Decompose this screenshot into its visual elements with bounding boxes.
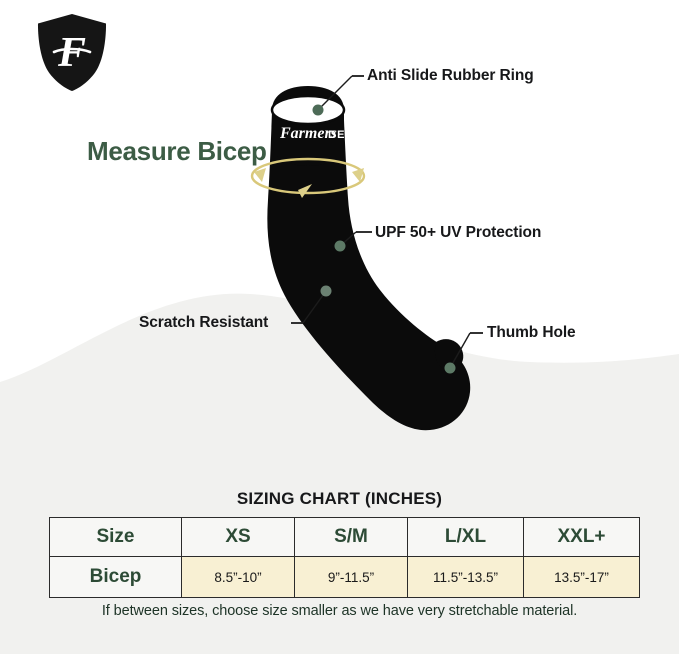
- sizing-chart-title: SIZING CHART (INCHES): [0, 489, 679, 509]
- shield-logo-icon: F: [30, 8, 114, 96]
- sizing-chart-table: Size XS S/M L/XL XXL+ Bicep 8.5”-10” 9”-…: [49, 517, 640, 598]
- bicep-value-xs: 8.5”-10”: [182, 557, 295, 598]
- bicep-value-lxl: 11.5”-13.5”: [408, 557, 524, 598]
- header-cell-xs: XS: [182, 518, 295, 557]
- sleeve-brand-text: Farmers DEFENSE: [279, 125, 388, 142]
- header-cell-size: Size: [50, 518, 182, 557]
- sizing-chart-header-row: Size XS S/M L/XL XXL+: [50, 518, 640, 557]
- header-cell-lxl: L/XL: [408, 518, 524, 557]
- bicep-value-xxl: 13.5”-17”: [524, 557, 640, 598]
- header-cell-sm: S/M: [295, 518, 408, 557]
- sleeve-bold-label: DEFENSE: [328, 129, 388, 141]
- callout-label-anti-slide-rubber-ring: Anti Slide Rubber Ring: [367, 67, 534, 85]
- bicep-value-sm: 9”-11.5”: [295, 557, 408, 598]
- infographic-page: F Farmers DEFENSE: [0, 0, 679, 654]
- callout-label-upf-protection: UPF 50+ UV Protection: [375, 224, 541, 242]
- measure-bicep-label: Measure Bicep: [87, 136, 267, 167]
- callout-label-thumb-hole: Thumb Hole: [487, 324, 576, 342]
- svg-text:F: F: [57, 30, 86, 76]
- callout-label-scratch-resistant: Scratch Resistant: [139, 314, 268, 332]
- sizing-chart-note: If between sizes, choose size smaller as…: [0, 603, 679, 619]
- sizing-chart-bicep-row: Bicep 8.5”-10” 9”-11.5” 11.5”-13.5” 13.5…: [50, 557, 640, 598]
- row-label-bicep: Bicep: [50, 557, 182, 598]
- header-cell-xxl: XXL+: [524, 518, 640, 557]
- arm-sleeve-illustration: Farmers DEFENSE: [240, 80, 500, 440]
